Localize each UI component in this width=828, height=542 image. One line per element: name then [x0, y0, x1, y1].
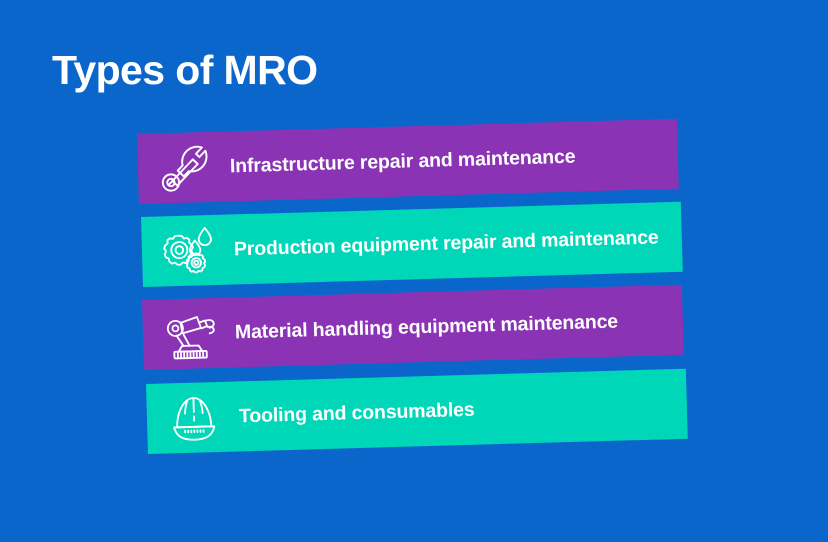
list-item-material-handling: Material handling equipment maintenance: [142, 285, 684, 370]
list-item-production-equipment: Production equipment repair and maintena…: [141, 202, 683, 287]
gears-oil-drops-icon: [155, 221, 223, 281]
list-item-infrastructure: Infrastructure repair and maintenance: [137, 119, 679, 204]
infographic-poster: Types of MRO Infrastructure repair and m…: [0, 0, 828, 542]
list-item-tooling: Tooling and consumables: [146, 369, 688, 454]
list-item-label: Material handling equipment maintenance: [235, 307, 684, 345]
list-item-label: Infrastructure repair and maintenance: [230, 141, 679, 179]
page-title: Types of MRO: [52, 48, 317, 93]
list-item-label: Production equipment repair and maintena…: [234, 224, 683, 262]
robotic-arm-icon: [156, 304, 224, 364]
hard-hat-icon: [160, 388, 228, 448]
wrench-screwdriver-icon: [151, 138, 219, 198]
list-item-label: Tooling and consumables: [239, 391, 688, 429]
